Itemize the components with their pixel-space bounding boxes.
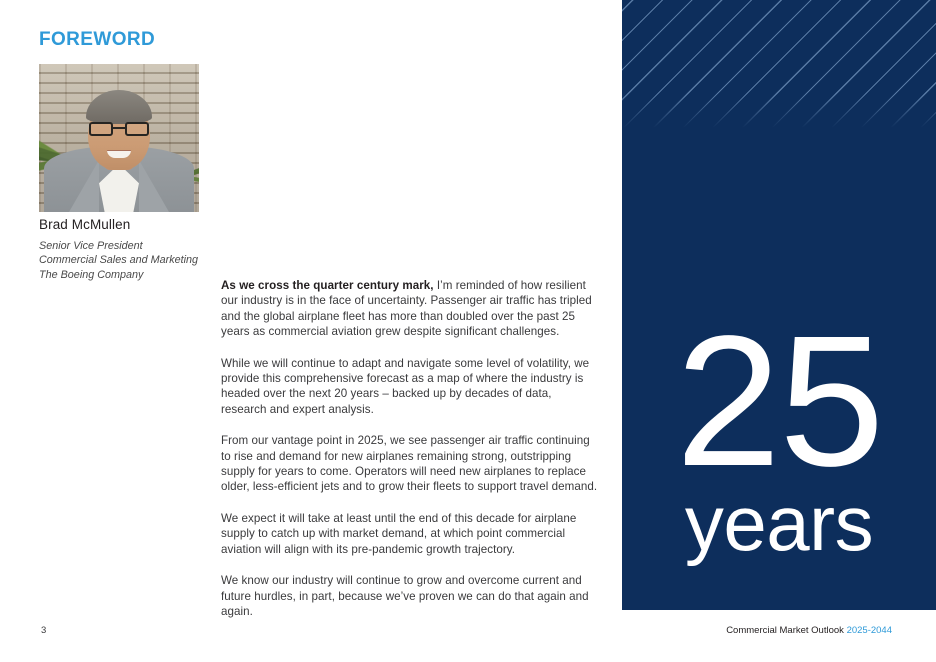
glasses-lens-left [89,122,113,136]
glasses-lens-right [125,122,149,136]
author-title-block: Senior Vice President Commercial Sales a… [39,239,198,282]
author-portrait-photo [39,64,199,212]
author-title-line-3: The Boeing Company [39,268,198,282]
paragraph-3: From our vantage point in 2025, we see p… [221,433,599,495]
hero-panel: 25 years [622,0,936,610]
hero-text-block: 25 years [622,322,936,564]
paragraph-2: While we will continue to adapt and navi… [221,356,599,418]
hero-number: 25 [622,322,936,482]
paragraph-1: As we cross the quarter century mark, I’… [221,278,599,340]
footer-publication: Commercial Market Outlook 2025-2044 [726,625,892,636]
author-title-line-1: Senior Vice President [39,239,198,253]
paragraph-4: We expect it will take at least until th… [221,511,599,557]
footer-publication-title: Commercial Market Outlook [726,625,846,636]
author-name: Brad McMullen [39,217,130,232]
paragraph-1-lead: As we cross the quarter century mark, [221,279,434,292]
diagonal-stripes-pattern [622,0,936,160]
author-title-line-2: Commercial Sales and Marketing [39,253,198,267]
footer-publication-years: 2025-2044 [847,625,892,636]
paragraph-5: We know our industry will continue to gr… [221,573,599,619]
page-number: 3 [41,625,46,636]
glasses-icon [89,122,149,136]
page-title: FOREWORD [39,29,155,51]
page-canvas: 25 years FOREWORD Brad McMullen Senior V… [0,0,936,662]
glasses-bridge [113,127,125,129]
foreword-body: As we cross the quarter century mark, I’… [221,278,599,619]
